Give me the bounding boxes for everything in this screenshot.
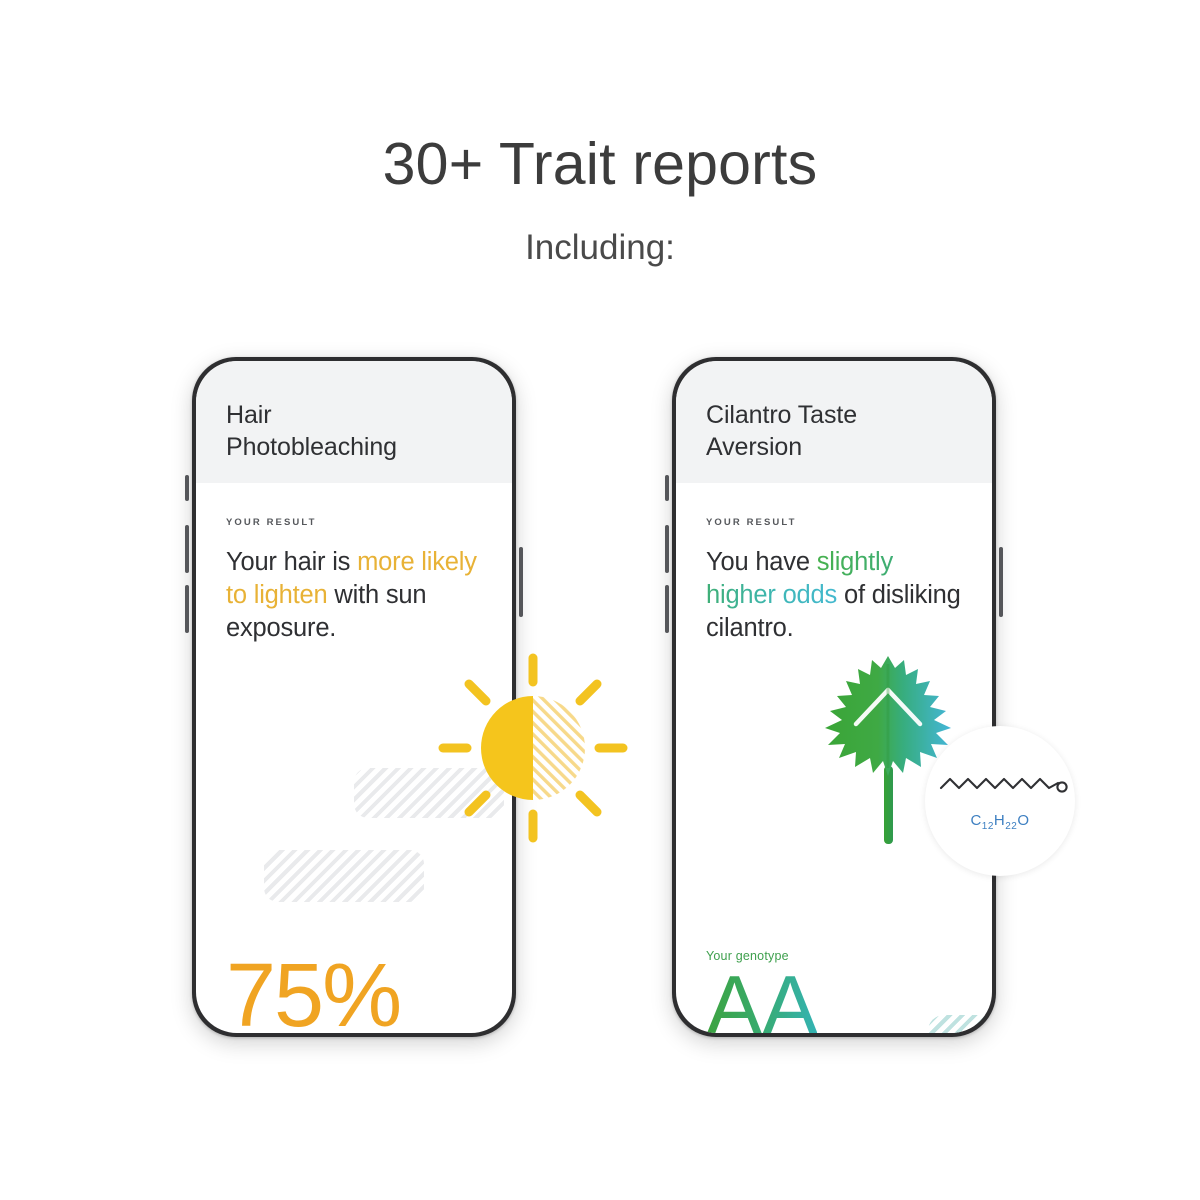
result-statement-hair: Your hair is more likely to lighten with… <box>226 546 482 645</box>
phone-volume-up-button <box>185 525 189 573</box>
trait-card-header-cilantro: Cilantro Taste Aversion <box>676 361 992 483</box>
decorative-hatch-block <box>354 768 504 818</box>
molecule-bubble: C12H22O <box>925 726 1075 876</box>
result-text-part-1: You have <box>706 548 817 576</box>
formula-hydrogen: H <box>994 812 1005 829</box>
formula-hydrogen-count: 22 <box>1005 821 1017 832</box>
trait-title-cilantro: Cilantro Taste Aversion <box>706 399 962 463</box>
phone-power-button <box>519 547 523 617</box>
trait-title-line-1: Hair <box>226 401 271 429</box>
formula-carbon-count: 12 <box>982 821 994 832</box>
molecule-formula: C12H22O <box>925 812 1075 832</box>
stat-percentage: 75% <box>226 955 431 1033</box>
trait-title-line-2: Photobleaching <box>226 433 397 461</box>
page-subtitle: Including: <box>0 228 1200 268</box>
page-title: 30+ Trait reports <box>0 132 1200 197</box>
phone-mute-switch <box>185 475 189 501</box>
trait-title-line-2: Aversion <box>706 433 802 461</box>
trait-card-header-hair: Hair Photobleaching <box>196 361 512 483</box>
trait-title-hair: Hair Photobleaching <box>226 399 482 463</box>
decorative-hatch-block <box>928 1015 992 1033</box>
trait-reports-promo: 30+ Trait reports Including: Hair Photob… <box>0 0 1200 1200</box>
phone-mockup-hair-photobleaching: Hair Photobleaching YOUR RESULT Your hai… <box>192 357 516 1037</box>
phone-volume-up-button <box>665 525 669 573</box>
trait-title-line-1: Cilantro Taste <box>706 401 857 429</box>
phone-screen-hair: Hair Photobleaching YOUR RESULT Your hai… <box>196 361 512 1033</box>
phone-volume-down-button <box>665 585 669 633</box>
trait-card-body-hair: YOUR RESULT Your hair is more likely to … <box>196 483 512 1033</box>
result-eyebrow-cilantro: YOUR RESULT <box>706 517 962 528</box>
formula-oxygen: O <box>1017 812 1029 829</box>
formula-carbon: C <box>970 812 981 829</box>
decorative-hatch-block <box>264 850 424 902</box>
genotype-block: Your genotype AA Marker rs2741762 <box>706 949 817 1033</box>
result-statement-cilantro: You have slightly higher odds of disliki… <box>706 546 962 645</box>
result-text-part-1: Your hair is <box>226 548 357 576</box>
result-eyebrow-hair: YOUR RESULT <box>226 517 482 528</box>
phone-power-button <box>999 547 1003 617</box>
stat-block-hair: 75% of people with results like yours ex… <box>226 955 431 1033</box>
phone-volume-down-button <box>185 585 189 633</box>
phone-mute-switch <box>665 475 669 501</box>
genotype-value: AA <box>706 967 817 1033</box>
